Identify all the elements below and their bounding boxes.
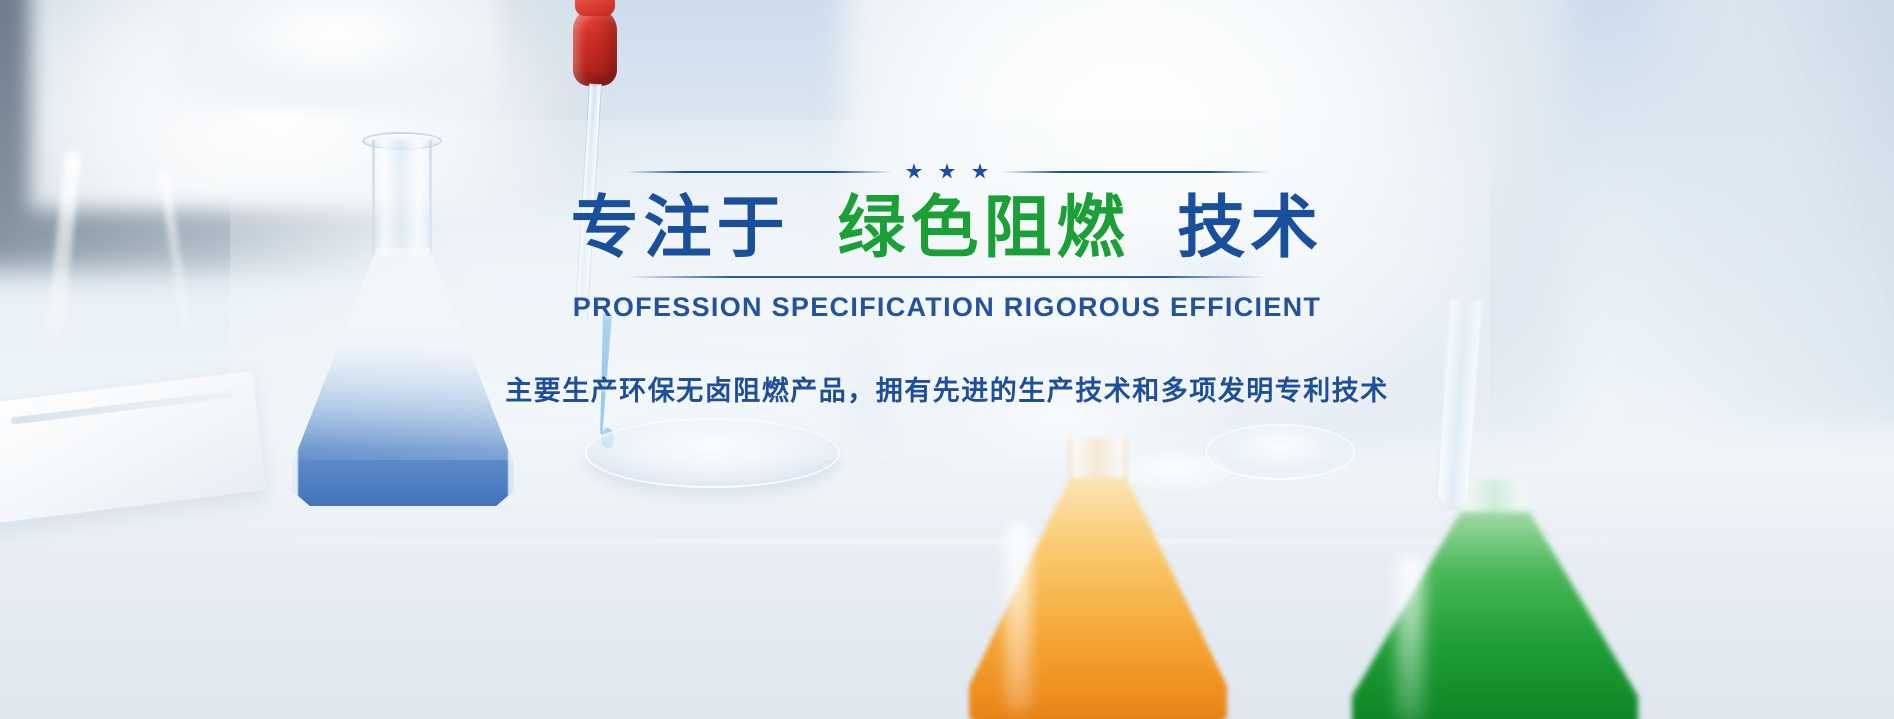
banner-title-part2: 绿色阻燃 <box>837 190 1129 266</box>
star-icon <box>906 163 923 180</box>
banner-title: 专注于 绿色阻燃 技术 <box>571 193 1324 264</box>
divider-rule-left <box>627 171 892 173</box>
hero-banner: 专注于 绿色阻燃 技术 PROFESSION SPECIFICATION RIG… <box>0 0 1894 719</box>
decorative-divider <box>627 163 1268 180</box>
banner-content: 专注于 绿色阻燃 技术 PROFESSION SPECIFICATION RIG… <box>0 0 1894 719</box>
banner-title-part1: 专注于 <box>571 190 790 266</box>
banner-subtitle-en: PROFESSION SPECIFICATION RIGOROUS EFFICI… <box>573 292 1321 323</box>
banner-tagline: 主要生产环保无卤阻燃产品，拥有先进的生产技术和多项发明专利技术 <box>505 369 1389 408</box>
star-icon <box>939 163 956 180</box>
star-group <box>906 163 989 180</box>
title-underline <box>627 276 1267 278</box>
banner-title-part3: 技术 <box>1177 190 1323 266</box>
divider-rule-right <box>1003 171 1268 173</box>
star-icon <box>972 163 989 180</box>
